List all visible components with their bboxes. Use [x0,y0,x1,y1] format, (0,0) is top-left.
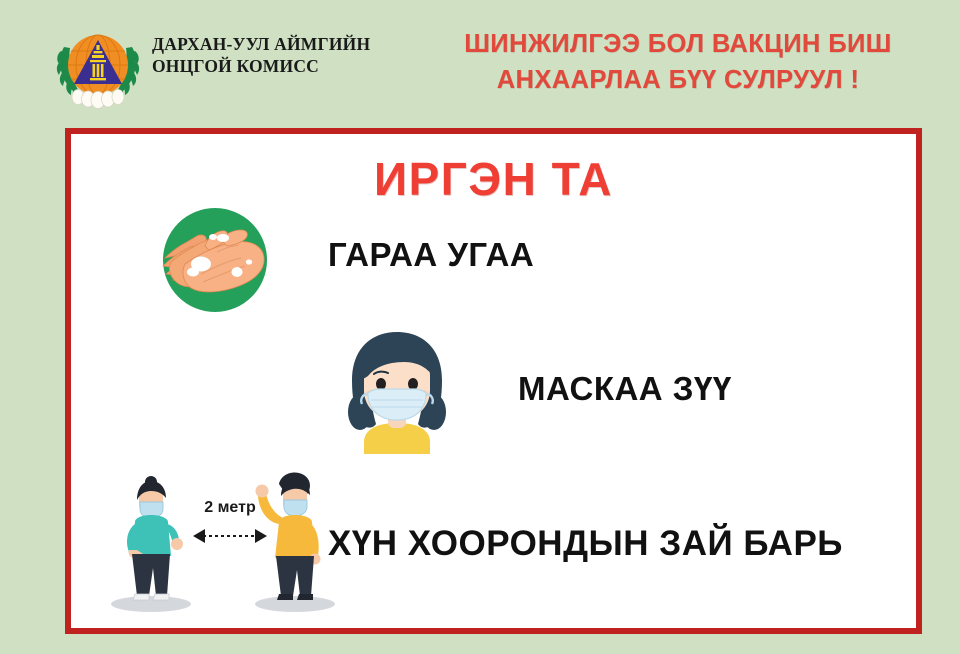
instructions-card: ИРГЭН ТА [65,128,922,634]
instruction-label-wash-hands: ГАРАА УГАА [328,236,534,274]
left-person [127,476,183,600]
distance-label: 2 метр [204,499,256,516]
instruction-label-social-distance: ХҮН ХООРОНДЫН ЗАЙ БАРЬ [328,524,843,564]
social-distancing-icon: 2 метр [99,464,361,619]
distance-arrow [193,529,267,543]
headline-line2: АНХААРЛАА БҮҮ СУЛРУУЛ ! [418,62,938,98]
organization-name-line1: ДАРХАН-УУЛ АЙМГИЙН [152,33,422,55]
girl-wearing-mask-icon [334,324,460,454]
instruction-row-wash-hands: ГАРАА УГАА [71,206,916,316]
covid-prevention-poster: ДАРХАН-УУЛ АЙМГИЙН ОНЦГОЙ КОМИСС ШИНЖИЛГ… [0,0,960,654]
headline-banner: ШИНЖИЛГЭЭ БОЛ ВАКЦИН БИШ АНХААРЛАА БҮҮ С… [418,26,938,99]
instruction-label-wear-mask: МАСКАА ЗҮҮ [518,370,732,408]
organization-name: ДАРХАН-УУЛ АЙМГИЙН ОНЦГОЙ КОМИСС [152,33,422,78]
headline-line1: ШИНЖИЛГЭЭ БОЛ ВАКЦИН БИШ [418,26,938,62]
instruction-row-wear-mask: МАСКАА ЗҮҮ [71,324,916,459]
washing-hands-icon [161,206,269,314]
mongolia-state-emblem-icon [48,21,148,113]
instruction-row-social-distance: 2 метр [71,464,916,624]
poster-header: ДАРХАН-УУЛ АЙМГИЙН ОНЦГОЙ КОМИСС ШИНЖИЛГ… [0,0,960,128]
organization-name-line2: ОНЦГОЙ КОМИСС [152,55,422,77]
page-title: ИРГЭН ТА [71,152,916,206]
